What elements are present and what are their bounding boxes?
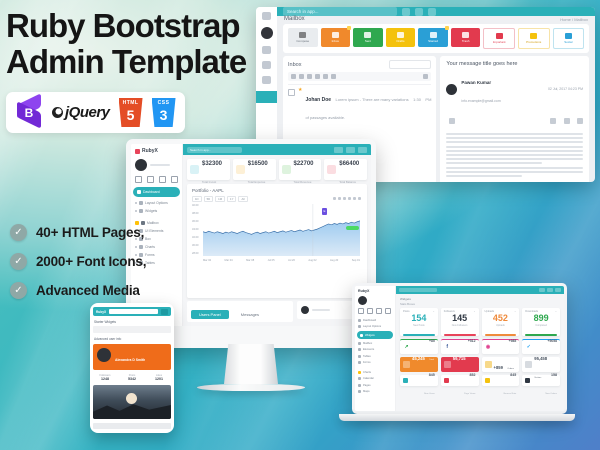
star-icon — [430, 32, 437, 38]
sidebar-item-label: Tables — [145, 261, 155, 265]
stat-card[interactable]: $22700 Total Revenue — [279, 159, 322, 180]
inbox-title: Inbox — [288, 62, 301, 68]
social-value: +85 — [429, 339, 435, 343]
message-sender-block: Pawan Kumar info.example@gmail.com 02 Ju… — [446, 71, 583, 107]
panel-tabs: Users Panel Messages — [187, 301, 293, 322]
check-icon: ✓ — [10, 282, 27, 299]
forms-icon — [358, 361, 361, 364]
zoom-in-icon[interactable] — [333, 197, 336, 200]
tag-icon — [530, 33, 537, 39]
gear-icon[interactable] — [428, 8, 436, 16]
x-tick: Sep 01 — [352, 259, 360, 262]
search-input[interactable] — [399, 288, 437, 293]
sidebar-item-widgets[interactable]: Widgets — [357, 331, 393, 339]
mailbox-header: Mailbox Home / Mailbox — [277, 16, 595, 22]
calendar-icon — [358, 377, 361, 380]
stat-value: 5342 — [120, 377, 144, 381]
topbar-actions — [539, 288, 561, 293]
maps-icon — [358, 390, 361, 393]
stat-label: Total Invest — [202, 180, 216, 184]
desktop-bottom-row: Users Panel Messages — [183, 298, 371, 326]
css3-number: 3 — [160, 108, 168, 122]
laptop-screen: RubyX Dashboard Layout Options Widgets — [352, 283, 567, 414]
area-chart-series — [203, 204, 360, 256]
x-tick: Jul 05 — [268, 259, 275, 262]
sidebar-item-forms[interactable]: Forms — [358, 360, 392, 367]
social-card[interactable]: ◉ +985 Users — [482, 339, 520, 354]
mail-icon[interactable] — [539, 288, 545, 293]
phone-search-field[interactable] — [93, 326, 171, 333]
phone-profile-card[interactable]: Alexandra D Smith — [93, 344, 171, 370]
range-button-5d[interactable]: 5D — [204, 196, 214, 202]
sidebar-item-label: Forms — [363, 361, 371, 364]
jquery-swoosh-icon — [52, 107, 63, 118]
breadcrumb: Home / Mailbox — [560, 17, 588, 22]
search-input[interactable]: Search in app... — [283, 7, 397, 16]
tile-value: 95,458 — [534, 356, 547, 361]
folder-drafts[interactable]: Drafts — [386, 28, 416, 47]
sidebar-item-label: Forms — [145, 253, 155, 257]
cart-icon — [403, 361, 410, 368]
bounce-icon — [485, 378, 490, 383]
bell-icon[interactable] — [147, 176, 154, 183]
user-name-placeholder — [312, 309, 330, 311]
sender-email: info.example@gmail.com — [461, 99, 500, 103]
chart-event-marker[interactable]: E — [322, 208, 327, 215]
bootstrap-logo-icon: B — [15, 99, 43, 127]
sidebar-item-label: Layout Options — [145, 201, 168, 205]
mailbox-folder-buttons: Compose Inbox Sent Drafts Starred — [283, 24, 589, 53]
sidebar-item-label: Widgets — [365, 334, 375, 337]
brand-mark-icon — [135, 149, 140, 154]
tech-badge-strip: B jQuery HTML 5 CSS 3 — [6, 92, 185, 133]
html5-number: 5 — [127, 108, 135, 122]
gear-icon[interactable] — [171, 176, 178, 183]
tab-users-panel[interactable]: Users Panel — [191, 310, 229, 319]
flag-icon — [496, 33, 503, 39]
history-icon[interactable] — [262, 61, 271, 69]
inbox-search-input[interactable] — [389, 60, 431, 69]
folder-label: Starred — [428, 39, 438, 43]
x-tick: Aug 20 — [330, 259, 338, 262]
sidebar-item-label: Dashboard — [363, 319, 376, 322]
sidebar-item-widgets[interactable]: Widgets — [135, 207, 178, 215]
menu-icon[interactable] — [358, 197, 361, 200]
tables-icon — [358, 355, 361, 358]
sidebar-item-label: Mailbox — [147, 221, 159, 225]
chat-icon[interactable] — [376, 308, 382, 314]
html5-logo-icon: HTML 5 — [119, 98, 143, 127]
sender-name: Johan Doe — [305, 97, 331, 103]
sidebar-item-label: Layout Options — [363, 325, 381, 328]
folder-label: Sent — [365, 39, 371, 43]
search-icon[interactable] — [135, 176, 142, 183]
forward-icon[interactable] — [577, 118, 583, 124]
orders-icon — [525, 378, 530, 383]
select-icon[interactable] — [348, 197, 351, 200]
check-icon: ✓ — [10, 253, 27, 270]
star-icon[interactable]: ★ — [298, 88, 302, 93]
bell-icon[interactable] — [547, 288, 553, 293]
twitter-icon: ✓ — [525, 344, 532, 351]
folder-label: Important — [493, 40, 506, 44]
menu-icon[interactable] — [262, 12, 271, 20]
people-icon — [565, 33, 572, 39]
x-tick: Mar 04 — [225, 259, 233, 262]
css3-label: CSS — [158, 100, 170, 106]
brand-logo[interactable]: RubyX — [358, 289, 392, 293]
sidebar-item-mailbox[interactable] — [256, 91, 277, 103]
delete-icon[interactable] — [299, 74, 304, 79]
stat-value: 1201 — [147, 377, 171, 381]
avatar[interactable] — [358, 296, 367, 305]
range-button-1m[interactable]: 1M — [215, 196, 225, 202]
box-icon — [485, 361, 492, 368]
select-all-icon[interactable] — [291, 74, 296, 79]
x-axis-labels: Mar 02 Mar 04 Mar 08 Jul 05 Jul 20 Aug 0… — [203, 259, 360, 262]
tile-label: Orders — [507, 368, 514, 370]
social-value: +512 — [468, 339, 476, 343]
stat-label: Total Revenue — [294, 180, 312, 184]
dollar-icon — [444, 361, 451, 368]
mail-meridiem: PM — [425, 97, 431, 102]
dashboard-icon — [137, 190, 141, 194]
widgets-icon — [360, 334, 363, 337]
widgets-icon — [139, 209, 143, 213]
sidebar-item-dashboard[interactable]: Dashboard — [133, 187, 180, 197]
invest-icon — [190, 165, 199, 174]
mini-stat-row: 845 New Users 852 Page Views 845 Bounc — [396, 372, 564, 390]
laptop-main: Widgets Stats Boxes Posts ⌄ 154 New Post… — [396, 286, 564, 411]
profile-name — [150, 164, 170, 166]
kpi-label: New Posts — [403, 324, 435, 327]
phone-stat: Posts 5342 — [120, 374, 144, 381]
laptop-sidebar: RubyX Dashboard Layout Options Widgets — [355, 286, 396, 411]
tile-label: Visitors — [534, 377, 541, 379]
headline-line-2: Admin Template — [6, 44, 256, 80]
feature-list: ✓ 40+ HTML Pages, ✓ 2000+ Font Icons, ✓ … — [10, 224, 146, 311]
stat-card[interactable]: $16500 Total Expense — [233, 159, 276, 180]
brand-logo[interactable]: RubyX — [135, 148, 178, 154]
html5-label: HTML — [123, 100, 139, 106]
search-button[interactable] — [161, 309, 168, 315]
message-subject: Your message title goes here — [446, 61, 583, 67]
stat-value: $16500 — [248, 161, 268, 167]
breadcrumb: Widgets — [396, 294, 564, 301]
tile-value: 59,715 — [453, 356, 466, 361]
jquery-logo-label: jQuery — [65, 104, 110, 121]
instagram-icon: ◉ — [485, 344, 492, 351]
phone-section-widgets: Starter Widgets — [94, 320, 170, 324]
feature-label: 40+ HTML Pages, — [36, 225, 144, 240]
x-tick: Jul 20 — [288, 259, 295, 262]
badge — [445, 26, 449, 30]
balance-icon — [327, 165, 336, 174]
phone-stat: Likes 1201 — [147, 374, 171, 381]
monitor-stand-foot — [197, 384, 305, 391]
kpi-value: 899 — [525, 313, 557, 324]
mini-label: Page Views — [464, 393, 476, 395]
folder-promotions[interactable]: Promotions — [518, 28, 550, 49]
social-value: +985 — [509, 339, 517, 343]
zoom-out-icon[interactable] — [338, 197, 341, 200]
folder-trash[interactable]: Trash — [451, 28, 481, 47]
avatar — [446, 84, 457, 95]
stat-label: Total Balance — [339, 180, 356, 184]
stat-value: 1248 — [93, 377, 117, 381]
y-tick: 36.00 — [192, 220, 199, 223]
badge — [347, 26, 351, 30]
feature-label: Advanced Media — [36, 283, 140, 298]
facebook-icon: f — [444, 344, 451, 351]
sidebar-quick-icons — [358, 308, 392, 314]
stat-label: Total Expense — [248, 180, 266, 184]
folder-social[interactable]: Social — [553, 28, 585, 49]
sidebar-item-label: Dashboard — [143, 190, 160, 194]
phone-mockup: RubyX Starter Widgets Advanced user info… — [90, 303, 174, 433]
more-icon[interactable] — [331, 74, 336, 79]
chevron-right-icon — [135, 210, 137, 212]
stat-value: $66400 — [339, 161, 359, 167]
mini-value: 845 — [510, 373, 516, 377]
mini-label: New Orders — [545, 393, 557, 395]
expense-icon — [236, 165, 245, 174]
y-tick: 32.00 — [192, 236, 199, 239]
avatar — [97, 348, 111, 362]
message-actions — [446, 111, 583, 129]
refresh-icon[interactable] — [423, 74, 428, 79]
folder-label: Social — [564, 40, 572, 44]
trash-icon — [462, 32, 469, 38]
portfolio-chart-card: Portfolio - AAPL 1D 5D 1M 1Y All — [187, 184, 367, 298]
inbox-icon — [332, 32, 339, 38]
mini-value: 158 — [551, 373, 557, 377]
kpi-value: 154 — [403, 313, 435, 324]
mini-value: 845 — [429, 373, 435, 377]
mail-time: 1:30 — [413, 97, 421, 102]
stat-card-row: $32300 Total Invest $16500 Total Expense… — [183, 155, 371, 180]
sidebar-item-layout-options[interactable]: Layout Options — [358, 324, 392, 331]
stat-value: $32300 — [202, 161, 222, 167]
phone-media-image — [93, 385, 171, 419]
mini-label: Bounce Rate — [504, 393, 517, 395]
range-button-1d[interactable]: 1D — [192, 196, 202, 202]
y-tick: 28.00 — [192, 252, 199, 255]
mini-stat[interactable]: 158 New Orders — [522, 375, 560, 386]
brand-label: RubyX — [142, 148, 158, 154]
profile-name: Alexandra D Smith — [115, 358, 145, 362]
folder-label: Promotions — [526, 40, 541, 44]
pan-icon[interactable] — [343, 197, 346, 200]
folder-label: Drafts — [396, 39, 404, 43]
phone-action-button[interactable] — [93, 423, 171, 429]
headline-block: Ruby Bootstrap Admin Template B jQuery H… — [6, 8, 256, 133]
folder-important[interactable]: Important — [483, 28, 515, 49]
x-tick: Mar 02 — [203, 259, 211, 262]
y-tick: 34.00 — [192, 228, 199, 231]
phone-stat-row: Followers 1248 Posts 5342 Likes 1201 — [93, 374, 171, 381]
folder-label: Trash — [462, 39, 470, 43]
row-checkbox[interactable] — [288, 89, 295, 96]
user-icon[interactable] — [415, 8, 423, 16]
laptop-mockup: RubyX Dashboard Layout Options Widgets — [352, 283, 567, 421]
stat-card[interactable]: $66400 Total Balance — [324, 159, 367, 180]
print-icon[interactable] — [550, 118, 556, 124]
search-icon[interactable] — [358, 308, 364, 314]
sidebar-item-label: Charts — [363, 371, 371, 374]
range-button-all[interactable]: All — [238, 196, 247, 202]
eye-icon — [444, 378, 449, 383]
elements-icon — [358, 348, 361, 351]
reset-icon[interactable] — [353, 197, 356, 200]
bootstrap-logo-letter: B — [15, 99, 43, 127]
sidebar-quick-icons — [135, 176, 178, 183]
send-icon — [364, 32, 371, 38]
stat-value: $22700 — [294, 161, 314, 167]
sidebar-item-maps[interactable]: Maps — [358, 389, 392, 396]
sun-icon — [126, 393, 137, 404]
sender-name: Pawan Kumar — [461, 80, 491, 85]
kpi-card-row: Posts ⌄ 154 New Posts Followers ⌄ 145 Ne… — [396, 308, 564, 336]
kpi-value: 145 — [444, 313, 476, 324]
avatar[interactable] — [135, 159, 147, 171]
chat-icon[interactable] — [159, 176, 166, 183]
last-price-pill — [346, 226, 359, 230]
calendar-icon — [525, 361, 532, 368]
folder-starred[interactable]: Starred — [418, 28, 448, 47]
desktop-main: Search in app... $32300 Total Invest $16… — [183, 144, 371, 326]
avatar[interactable] — [261, 27, 273, 39]
gear-icon[interactable] — [555, 288, 561, 293]
mini-label: New Users — [424, 393, 435, 395]
sidebar-item-layout-options[interactable]: Layout Options — [135, 199, 178, 207]
archive-icon[interactable] — [307, 74, 312, 79]
headline-line-1: Ruby Bootstrap — [6, 8, 256, 44]
kpi-label: New Followers — [444, 324, 476, 327]
attachment-icon[interactable] — [449, 118, 455, 124]
y-tick: 40.00 — [192, 204, 199, 207]
sidebar-item-label: Elements — [363, 348, 374, 351]
sidebar-item-label: Tables — [363, 355, 371, 358]
range-button-1y[interactable]: 1Y — [227, 196, 236, 202]
gear-icon[interactable] — [385, 308, 391, 314]
inbox-toolbar[interactable] — [288, 72, 431, 81]
sidebar-item-label: Maps — [363, 390, 370, 393]
feature-item: ✓ 40+ HTML Pages, — [10, 224, 146, 241]
spam-icon[interactable] — [315, 74, 320, 79]
compose-icon — [299, 32, 306, 38]
tile-row: 45,245 Total Sales 59,715 Revenue +859 O… — [396, 354, 564, 372]
sidebar-item-label: Charts — [145, 245, 155, 249]
tile-value: 45,245 — [412, 356, 425, 361]
bell-icon[interactable] — [367, 308, 373, 314]
list-icon[interactable] — [262, 76, 271, 84]
sidebar-item-label: Pages — [363, 384, 371, 387]
mini-stat[interactable]: 845 New Users — [400, 375, 438, 386]
tab-messages[interactable]: Messages — [233, 310, 267, 319]
message-body — [446, 133, 583, 177]
folder-compose[interactable]: Compose — [288, 28, 318, 47]
folder-label: Inbox — [332, 39, 339, 43]
dashboard-icon — [358, 319, 361, 322]
jquery-logo-icon: jQuery — [52, 104, 110, 121]
chevron-right-icon — [135, 202, 137, 204]
y-tick: 30.00 — [192, 244, 199, 247]
avatar — [301, 306, 309, 314]
stat-card[interactable]: $32300 Total Invest — [187, 159, 230, 180]
message-reading-panel: Your message title goes here Pawan Kumar… — [440, 56, 589, 182]
layout-icon — [358, 325, 361, 328]
folder-label: Compose — [296, 39, 309, 43]
monitor-stand-neck — [224, 344, 278, 384]
message-date: 02 Jul, 2017 04:23 PM — [548, 87, 583, 91]
tile-value: +859 — [494, 365, 503, 370]
mini-stat[interactable]: 845 Bounce Rate — [482, 375, 520, 386]
page-title: Mailbox — [284, 16, 305, 22]
folder-inbox[interactable]: Inbox — [321, 28, 351, 47]
mailbox-icon — [358, 342, 361, 345]
section-title: Stats Boxes — [396, 301, 564, 308]
tile-label: Revenue — [453, 377, 462, 379]
social-value: +5058 — [547, 339, 557, 343]
laptop-topbar — [396, 286, 564, 294]
label-icon[interactable] — [323, 74, 328, 79]
x-tick: Mar 08 — [246, 259, 254, 262]
laptop-base — [339, 414, 575, 421]
sidebar-item-label: Calendar — [363, 377, 374, 380]
inbox-header: Inbox — [288, 60, 431, 69]
draft-icon — [397, 32, 404, 38]
sidebar-item-label: Widgets — [145, 209, 157, 213]
kpi-label: Completed — [525, 324, 557, 327]
users-icon — [403, 378, 408, 383]
mailbox-topbar: Search in app... — [277, 7, 595, 16]
folder-sent[interactable]: Sent — [353, 28, 383, 47]
reply-icon[interactable] — [564, 118, 570, 124]
phone-stat: Followers 1248 — [93, 374, 117, 381]
pages-icon — [358, 384, 361, 387]
profile-block[interactable] — [135, 159, 178, 171]
kpi-label: Uploads — [485, 324, 517, 327]
mini-value: 852 — [470, 373, 476, 377]
sidebar-item-label: UI Elements — [145, 229, 163, 233]
briefcase-icon[interactable] — [262, 46, 271, 54]
feature-label: 2000+ Font Icons, — [36, 254, 146, 269]
chart-title: Portfolio - AAPL — [192, 188, 362, 193]
revenue-icon — [282, 165, 291, 174]
x-tick: Aug 02 — [308, 259, 316, 262]
mail-list-item[interactable]: ★ Johan Doe Lorem ipsum - There are many… — [288, 84, 431, 124]
layout-icon — [139, 201, 143, 205]
feature-item: ✓ 2000+ Font Icons, — [10, 253, 146, 270]
y-tick: 38.00 — [192, 212, 199, 215]
kpi-value: 452 — [485, 313, 517, 324]
css3-logo-icon: CSS 3 — [152, 98, 176, 127]
feature-item: ✓ Advanced Media — [10, 282, 146, 299]
chart-plot-area: 40.00 38.00 36.00 34.00 32.00 30.00 28.0… — [192, 204, 362, 256]
charts-icon — [358, 371, 361, 374]
phone-section-userinfo: Advanced user info — [94, 337, 170, 341]
chart-toolbar — [333, 197, 361, 200]
sidebar-item-label: Mailbox — [363, 342, 372, 345]
check-icon: ✓ — [10, 224, 27, 241]
mail-icon[interactable] — [402, 8, 410, 16]
trend-icon: ↗ — [403, 344, 410, 351]
